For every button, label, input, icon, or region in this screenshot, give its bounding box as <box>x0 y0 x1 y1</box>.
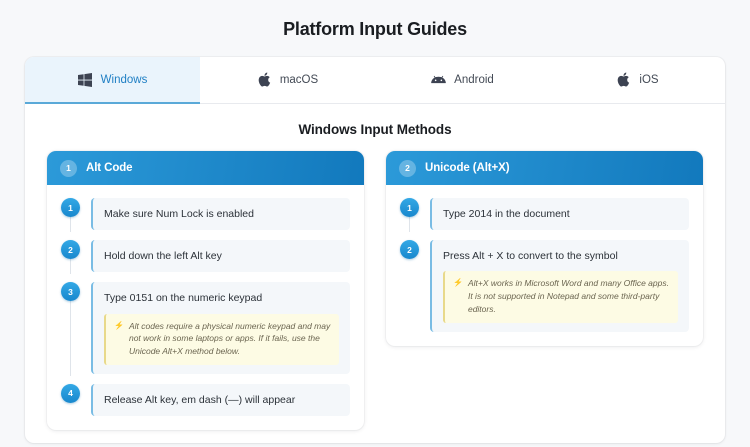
step-text: Press Alt + X to convert to the symbol <box>443 249 678 263</box>
method-card: 1Alt Code1Make sure Num Lock is enabled2… <box>47 151 364 430</box>
method-cards: 1Alt Code1Make sure Num Lock is enabled2… <box>25 151 725 430</box>
step-marker: 1 <box>61 198 80 230</box>
tab-macos[interactable]: macOS <box>200 57 375 104</box>
step-content: Release Alt key, em dash (—) will appear <box>91 384 350 416</box>
tab-label: Windows <box>101 74 148 86</box>
guides-panel: WindowsmacOSAndroidiOS Windows Input Met… <box>25 57 725 443</box>
step-content: Make sure Num Lock is enabled <box>91 198 350 230</box>
tab-android[interactable]: Android <box>375 57 550 104</box>
step-number-badge: 1 <box>61 198 80 217</box>
step-connector-line <box>70 259 71 274</box>
step-note: ⚡Alt codes require a physical numeric ke… <box>104 314 339 365</box>
warning-icon: ⚡ <box>453 277 463 315</box>
android-robot-icon <box>431 72 446 87</box>
tab-windows[interactable]: Windows <box>25 57 200 104</box>
apple-logo-icon <box>616 72 631 87</box>
tab-label: macOS <box>280 74 318 86</box>
step-number-badge: 2 <box>61 240 80 259</box>
step-note-text: Alt codes require a physical numeric key… <box>129 320 331 358</box>
step-number-badge: 3 <box>61 282 80 301</box>
platform-tabs: WindowsmacOSAndroidiOS <box>25 57 725 104</box>
step-text: Type 2014 in the document <box>443 207 678 221</box>
apple-logo-icon <box>257 72 272 87</box>
step-content: Type 2014 in the document <box>430 198 689 230</box>
card-header-title: Unicode (Alt+X) <box>425 162 509 174</box>
step-connector-line <box>70 301 71 375</box>
tab-label: iOS <box>639 74 658 86</box>
step-text: Release Alt key, em dash (—) will appear <box>104 393 339 407</box>
windows-logo-icon <box>78 72 93 87</box>
step-connector-line <box>409 217 410 232</box>
card-body: 1Type 2014 in the document2Press Alt + X… <box>386 185 703 346</box>
step-marker: 2 <box>400 240 419 331</box>
step-marker: 1 <box>400 198 419 230</box>
card-header: 1Alt Code <box>47 151 364 185</box>
step-number-badge: 1 <box>400 198 419 217</box>
card-header-title: Alt Code <box>86 162 132 174</box>
step-item: 4Release Alt key, em dash (—) will appea… <box>61 384 350 416</box>
step-item: 1Make sure Num Lock is enabled <box>61 198 350 240</box>
step-content: Press Alt + X to convert to the symbol⚡A… <box>430 240 689 331</box>
tab-ios[interactable]: iOS <box>550 57 725 104</box>
step-marker: 3 <box>61 282 80 373</box>
tab-label: Android <box>454 74 494 86</box>
step-marker: 2 <box>61 240 80 272</box>
card-body: 1Make sure Num Lock is enabled2Hold down… <box>47 185 364 430</box>
step-content: Type 0151 on the numeric keypad⚡Alt code… <box>91 282 350 373</box>
step-note: ⚡Alt+X works in Microsoft Word and many … <box>443 271 678 322</box>
step-text: Make sure Num Lock is enabled <box>104 207 339 221</box>
step-item: 1Type 2014 in the document <box>400 198 689 240</box>
warning-icon: ⚡ <box>114 320 124 358</box>
step-note-text: Alt+X works in Microsoft Word and many O… <box>468 277 670 315</box>
step-item: 2Hold down the left Alt key <box>61 240 350 282</box>
card-header-badge: 2 <box>399 160 416 177</box>
step-connector-line <box>70 217 71 232</box>
section-title: Windows Input Methods <box>25 104 725 151</box>
step-item: 3Type 0151 on the numeric keypad⚡Alt cod… <box>61 282 350 383</box>
card-header: 2Unicode (Alt+X) <box>386 151 703 185</box>
step-number-badge: 2 <box>400 240 419 259</box>
card-header-badge: 1 <box>60 160 77 177</box>
step-marker: 4 <box>61 384 80 416</box>
step-number-badge: 4 <box>61 384 80 403</box>
step-text: Type 0151 on the numeric keypad <box>104 291 339 305</box>
step-content: Hold down the left Alt key <box>91 240 350 272</box>
step-item: 2Press Alt + X to convert to the symbol⚡… <box>400 240 689 331</box>
page-title: Platform Input Guides <box>0 0 750 40</box>
method-card: 2Unicode (Alt+X)1Type 2014 in the docume… <box>386 151 703 346</box>
step-text: Hold down the left Alt key <box>104 249 339 263</box>
